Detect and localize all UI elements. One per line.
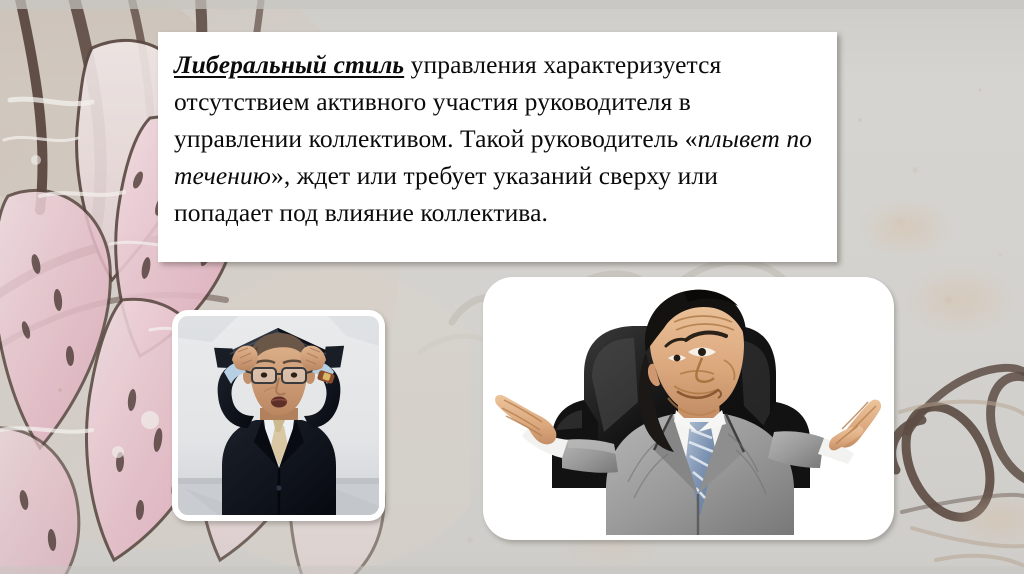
slide-root: Либеральный стиль управления характеризу… <box>0 0 1024 574</box>
photo-boss-shrug-inner <box>488 282 889 535</box>
photo-boss-folder-inner <box>178 316 379 515</box>
definition-paragraph: Либеральный стиль управления характеризу… <box>174 46 819 231</box>
photo-boss-folder <box>172 310 385 521</box>
photo-boss-folder-art <box>178 316 379 515</box>
photo-boss-shrug <box>483 277 894 540</box>
definition-text-box: Либеральный стиль управления характеризу… <box>158 32 837 262</box>
quote-close: » <box>271 161 284 190</box>
quote-open: « <box>685 124 698 153</box>
photo-boss-shrug-art <box>488 282 889 535</box>
keyword-liberal-style: Либеральный стиль <box>174 50 404 79</box>
